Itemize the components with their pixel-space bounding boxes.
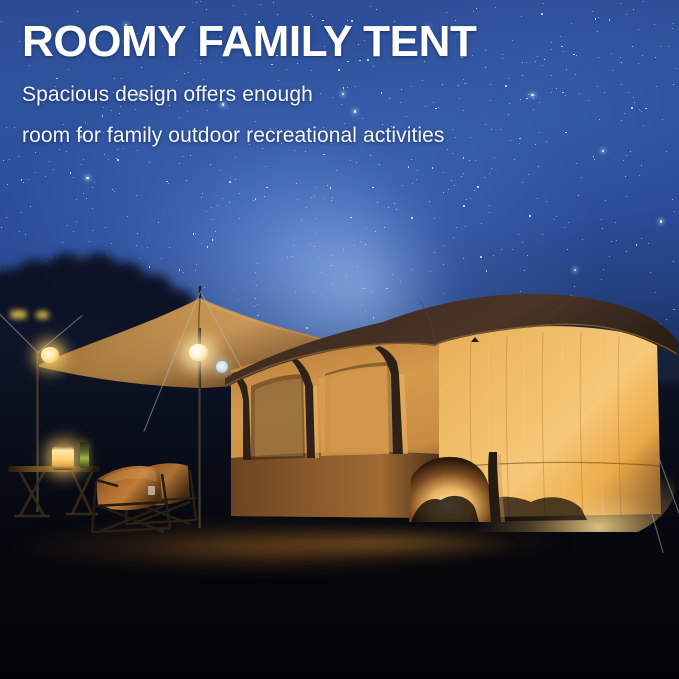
- star-icon: [53, 169, 54, 170]
- star-icon: [522, 75, 523, 76]
- star-icon: [49, 161, 50, 162]
- star-icon: [265, 166, 266, 167]
- star-icon: [83, 193, 84, 194]
- star-icon: [355, 86, 356, 87]
- star-icon: [485, 124, 486, 125]
- star-icon: [521, 16, 522, 17]
- star-icon: [672, 28, 673, 29]
- star-icon: [490, 100, 491, 101]
- star-icon: [672, 199, 673, 200]
- star-icon: [210, 164, 211, 165]
- star-icon: [323, 154, 324, 155]
- star-icon: [438, 107, 439, 108]
- star-icon: [566, 69, 567, 70]
- star-icon: [490, 84, 491, 85]
- star-icon: [220, 170, 221, 171]
- star-icon: [434, 218, 435, 219]
- secondary-light: [216, 361, 228, 373]
- star-icon: [233, 5, 234, 6]
- star-icon: [347, 87, 348, 88]
- star-icon: [70, 172, 72, 174]
- star-icon: [422, 80, 423, 81]
- star-icon: [522, 242, 523, 243]
- star-icon: [520, 99, 521, 100]
- star-icon: [546, 201, 547, 202]
- star-icon: [626, 14, 627, 15]
- star-icon: [287, 257, 288, 258]
- star-icon: [306, 207, 307, 208]
- star-icon: [602, 228, 603, 229]
- star-icon: [331, 265, 333, 267]
- star-icon: [673, 23, 674, 24]
- star-icon: [108, 159, 109, 160]
- star-icon: [433, 102, 434, 103]
- star-icon: [546, 141, 547, 142]
- star-icon: [565, 132, 567, 134]
- star-icon: [293, 245, 294, 246]
- star-icon: [544, 59, 546, 61]
- star-icon: [626, 196, 627, 197]
- star-icon: [484, 177, 485, 178]
- star-icon: [255, 121, 256, 122]
- star-icon: [81, 164, 82, 165]
- star-icon: [474, 190, 475, 191]
- star-icon: [459, 98, 460, 99]
- star-icon: [176, 80, 177, 81]
- star-icon: [264, 196, 265, 197]
- star-icon: [538, 166, 539, 167]
- star-icon: [158, 222, 159, 223]
- star-icon: [500, 129, 501, 130]
- star-icon: [217, 205, 218, 206]
- star-icon: [402, 185, 403, 186]
- star-icon: [117, 159, 119, 161]
- star-icon: [486, 270, 487, 271]
- star-icon: [524, 270, 525, 271]
- star-icon: [469, 160, 470, 161]
- star-icon: [203, 79, 204, 80]
- star-icon: [537, 56, 538, 57]
- star-icon: [388, 207, 389, 208]
- star-icon: [578, 195, 579, 196]
- star-icon: [628, 92, 629, 93]
- star-icon: [603, 269, 604, 270]
- star-icon: [206, 9, 207, 10]
- star-icon: [485, 50, 486, 51]
- star-icon: [448, 189, 449, 190]
- star-icon: [121, 78, 122, 79]
- star-icon: [18, 156, 19, 157]
- star-icon: [68, 69, 69, 70]
- star-icon: [604, 92, 605, 93]
- hanging-lantern-center: [189, 344, 208, 361]
- star-icon: [473, 11, 474, 12]
- star-icon: [255, 198, 256, 199]
- star-icon: [660, 220, 662, 222]
- star-icon: [6, 217, 7, 218]
- star-icon: [575, 74, 576, 75]
- star-icon: [551, 92, 552, 93]
- star-icon: [137, 150, 138, 151]
- star-icon: [357, 266, 358, 267]
- star-icon: [443, 172, 444, 173]
- star-icon: [648, 243, 649, 244]
- star-icon: [149, 162, 150, 163]
- subtitle-line-1: Spacious design offers enough: [22, 83, 313, 107]
- star-icon: [656, 86, 657, 87]
- star-icon: [105, 227, 106, 228]
- star-icon: [354, 245, 355, 246]
- star-icon: [539, 132, 540, 133]
- star-icon: [537, 198, 538, 199]
- star-icon: [528, 94, 529, 95]
- star-icon: [222, 198, 223, 199]
- star-icon: [294, 150, 295, 151]
- star-icon: [9, 159, 10, 160]
- star-icon: [655, 57, 656, 58]
- star-icon: [556, 216, 557, 217]
- star-icon: [136, 195, 137, 196]
- star-icon: [332, 97, 333, 98]
- star-icon: [662, 119, 663, 120]
- star-icon: [562, 92, 563, 93]
- star-icon: [76, 199, 77, 200]
- star-icon: [595, 18, 596, 19]
- chair-tag: [148, 486, 155, 495]
- star-icon: [666, 151, 667, 152]
- star-icon: [315, 187, 316, 188]
- star-icon: [668, 46, 669, 47]
- star-icon: [83, 159, 84, 160]
- star-icon: [389, 98, 390, 99]
- star-icon: [76, 221, 77, 222]
- star-icon: [616, 240, 617, 241]
- star-icon: [638, 63, 639, 64]
- star-icon: [360, 241, 361, 242]
- star-icon: [286, 69, 287, 70]
- star-icon: [412, 183, 413, 184]
- star-icon: [602, 150, 604, 152]
- star-icon: [508, 114, 509, 115]
- star-icon: [66, 151, 67, 152]
- star-icon: [406, 116, 407, 117]
- star-icon: [245, 14, 246, 15]
- star-icon: [114, 78, 115, 79]
- star-icon: [85, 122, 86, 123]
- star-icon: [615, 222, 616, 223]
- star-icon: [86, 177, 88, 179]
- star-icon: [102, 115, 103, 116]
- star-icon: [581, 177, 582, 178]
- star-icon: [480, 256, 482, 258]
- star-icon: [512, 249, 513, 250]
- star-icon: [493, 255, 494, 256]
- star-icon: [453, 237, 454, 238]
- star-icon: [67, 225, 68, 226]
- star-icon: [86, 198, 87, 199]
- star-icon: [641, 165, 642, 166]
- star-icon: [466, 199, 467, 200]
- star-icon: [341, 104, 342, 105]
- star-icon: [28, 179, 29, 180]
- star-icon: [3, 160, 4, 161]
- star-icon: [376, 9, 377, 10]
- star-icon: [588, 100, 589, 101]
- star-icon: [291, 256, 292, 257]
- star-icon: [565, 95, 566, 96]
- star-icon: [179, 163, 180, 164]
- star-icon: [597, 86, 598, 87]
- star-icon: [489, 205, 490, 206]
- star-icon: [277, 14, 278, 15]
- star-icon: [432, 167, 433, 168]
- star-icon: [168, 183, 169, 184]
- star-icon: [21, 212, 22, 213]
- star-icon: [56, 78, 57, 79]
- star-icon: [296, 183, 297, 184]
- star-icon: [543, 3, 544, 4]
- star-icon: [310, 243, 311, 244]
- horizon-warm-glow-core: [150, 520, 670, 566]
- star-icon: [597, 31, 598, 32]
- star-icon: [318, 257, 319, 258]
- star-icon: [567, 249, 568, 250]
- star-icon: [519, 143, 520, 144]
- star-icon: [593, 156, 594, 157]
- star-icon: [568, 222, 569, 223]
- star-icon: [411, 159, 412, 160]
- star-icon: [104, 154, 105, 155]
- star-icon: [179, 117, 180, 118]
- star-icon: [476, 8, 477, 9]
- star-icon: [19, 41, 20, 42]
- star-icon: [673, 261, 675, 263]
- star-icon: [92, 208, 93, 209]
- star-icon: [571, 23, 572, 24]
- star-icon: [305, 151, 306, 152]
- star-icon: [527, 255, 528, 256]
- star-icon: [211, 207, 212, 208]
- star-icon: [14, 127, 15, 128]
- star-icon: [518, 234, 519, 235]
- star-icon: [342, 93, 344, 95]
- star-icon: [529, 215, 531, 217]
- star-icon: [598, 17, 599, 18]
- bottle-on-table: [80, 442, 89, 468]
- star-icon: [442, 84, 443, 85]
- star-icon: [533, 98, 534, 99]
- star-icon: [443, 245, 444, 246]
- star-icon: [598, 57, 599, 58]
- star-icon: [489, 173, 490, 174]
- star-icon: [605, 200, 606, 201]
- star-icon: [332, 197, 333, 198]
- star-icon: [621, 62, 622, 63]
- star-icon: [489, 212, 490, 213]
- star-icon: [6, 127, 7, 128]
- star-icon: [408, 166, 409, 167]
- star-icon: [314, 246, 315, 247]
- star-icon: [560, 36, 561, 37]
- star-icon: [650, 272, 651, 273]
- family-tent: [225, 282, 679, 532]
- star-icon: [551, 75, 552, 76]
- star-icon: [563, 51, 564, 52]
- star-icon: [564, 227, 565, 228]
- subtitle-line-2: room for family outdoor recreational act…: [22, 124, 445, 148]
- star-icon: [465, 226, 466, 227]
- star-icon: [119, 113, 120, 114]
- star-icon: [470, 198, 471, 199]
- star-icon: [373, 66, 374, 67]
- star-icon: [21, 179, 22, 180]
- star-icon: [141, 67, 143, 69]
- star-icon: [343, 87, 345, 89]
- star-icon: [343, 249, 344, 250]
- star-icon: [354, 110, 356, 112]
- star-icon: [463, 157, 464, 158]
- star-icon: [112, 189, 113, 190]
- star-icon: [466, 83, 467, 84]
- star-icon: [257, 263, 258, 264]
- star-icon: [477, 186, 479, 188]
- star-icon: [212, 219, 213, 220]
- star-icon: [643, 1, 644, 2]
- star-icon: [315, 233, 316, 234]
- star-icon: [434, 252, 435, 253]
- star-icon: [634, 102, 635, 103]
- star-icon: [621, 84, 622, 85]
- page-title: ROOMY FAMILY TENT: [22, 19, 476, 65]
- star-icon: [502, 58, 503, 59]
- star-icon: [541, 13, 543, 15]
- star-icon: [331, 200, 332, 201]
- star-icon: [464, 83, 465, 84]
- star-icon: [633, 97, 634, 98]
- star-icon: [187, 111, 188, 112]
- star-icon: [463, 79, 464, 80]
- star-icon: [621, 120, 622, 121]
- star-icon: [311, 70, 312, 71]
- product-hero-poster: ROOMY FAMILY TENT Spacious design offers…: [0, 0, 679, 679]
- star-icon: [609, 19, 610, 20]
- star-icon: [30, 206, 31, 207]
- star-icon: [502, 54, 503, 55]
- star-icon: [417, 170, 418, 171]
- star-icon: [475, 160, 476, 161]
- star-icon: [202, 193, 203, 194]
- star-icon: [443, 264, 444, 265]
- star-icon: [435, 108, 437, 110]
- star-icon: [381, 92, 382, 93]
- star-icon: [350, 217, 352, 219]
- star-icon: [45, 176, 46, 177]
- star-icon: [491, 168, 492, 169]
- star-icon: [456, 227, 457, 228]
- star-icon: [320, 93, 321, 94]
- star-icon: [92, 187, 93, 188]
- star-icon: [103, 107, 104, 108]
- star-icon: [551, 49, 552, 50]
- star-icon: [609, 256, 610, 257]
- star-icon: [501, 249, 502, 250]
- star-icon: [463, 205, 465, 207]
- star-icon: [375, 231, 376, 232]
- star-icon: [443, 192, 444, 193]
- star-icon: [111, 110, 112, 111]
- star-icon: [470, 137, 471, 138]
- star-icon: [579, 93, 580, 94]
- star-icon: [365, 244, 367, 246]
- star-icon: [573, 54, 575, 56]
- star-icon: [514, 159, 515, 160]
- star-icon: [625, 176, 626, 177]
- star-icon: [356, 162, 357, 163]
- star-icon: [384, 227, 385, 228]
- star-icon: [495, 7, 496, 8]
- star-icon: [411, 217, 413, 219]
- star-icon: [411, 86, 412, 87]
- table-lantern: [52, 446, 74, 470]
- star-icon: [574, 269, 576, 271]
- star-icon: [1, 21, 2, 22]
- star-icon: [336, 170, 337, 171]
- star-icon: [266, 187, 267, 188]
- star-icon: [638, 29, 639, 30]
- star-icon: [127, 216, 128, 217]
- star-icon: [612, 70, 613, 71]
- star-icon: [311, 14, 312, 15]
- star-icon: [582, 239, 583, 240]
- star-icon: [201, 197, 202, 198]
- star-icon: [512, 40, 513, 41]
- star-icon: [458, 85, 459, 86]
- star-icon: [229, 202, 230, 203]
- star-icon: [273, 2, 274, 3]
- star-icon: [190, 155, 191, 156]
- star-icon: [624, 113, 625, 114]
- star-icon: [401, 89, 402, 90]
- star-icon: [535, 144, 536, 145]
- star-icon: [117, 149, 118, 150]
- star-icon: [641, 111, 642, 112]
- star-icon: [542, 234, 543, 235]
- star-icon: [370, 155, 371, 156]
- star-icon: [642, 55, 643, 56]
- star-icon: [623, 160, 624, 161]
- star-icon: [594, 159, 595, 160]
- star-icon: [535, 61, 536, 62]
- star-icon: [239, 193, 240, 194]
- star-icon: [235, 179, 236, 180]
- star-icon: [253, 200, 254, 201]
- star-icon: [461, 176, 462, 177]
- star-icon: [1, 227, 2, 228]
- star-icon: [561, 46, 562, 47]
- star-icon: [509, 103, 510, 104]
- star-icon: [94, 182, 95, 183]
- star-icon: [519, 138, 520, 139]
- star-icon: [400, 102, 401, 103]
- star-icon: [278, 80, 279, 81]
- star-icon: [481, 223, 482, 224]
- star-icon: [494, 157, 495, 158]
- star-icon: [230, 177, 231, 178]
- star-icon: [620, 3, 621, 4]
- star-icon: [673, 84, 674, 85]
- star-icon: [447, 149, 448, 150]
- star-icon: [626, 251, 627, 252]
